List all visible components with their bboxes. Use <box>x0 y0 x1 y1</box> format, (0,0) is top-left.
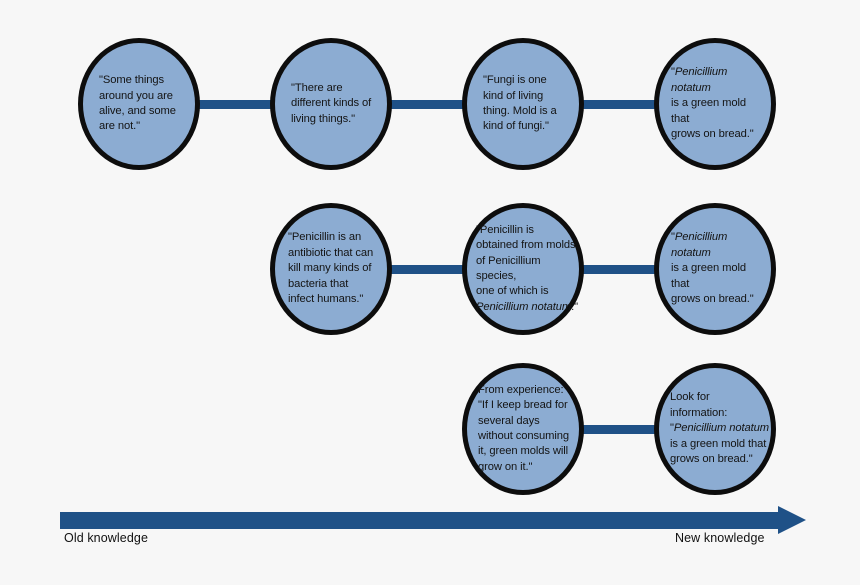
node-r2n3-label: "Penicillium notatum is a green mold tha… <box>659 230 771 307</box>
timeline-arrow-shaft <box>60 512 780 529</box>
node-r2n1-label: "Penicillin is an antibiotic that can ki… <box>275 230 387 307</box>
node-r3n2[interactable]: Look for information: "Penicillium notat… <box>654 363 776 495</box>
node-r2n1[interactable]: "Penicillin is an antibiotic that can ki… <box>270 203 392 335</box>
axis-label-new-knowledge: New knowledge <box>675 531 765 545</box>
node-r1n3[interactable]: "Fungi is one kind of living thing. Mold… <box>462 38 584 170</box>
node-r1n1-label: "Some things around you are alive, and s… <box>83 73 195 135</box>
connector-r1-1-2 <box>186 100 282 109</box>
node-r1n2-label: "There are different kinds of living thi… <box>275 81 387 127</box>
timeline-arrow-head <box>778 506 806 534</box>
node-r3n1[interactable]: From experience: "If I keep bread for se… <box>462 363 584 495</box>
node-r3n2-label: Look for information: "Penicillium notat… <box>659 390 771 467</box>
diagram-canvas: "Some things around you are alive, and s… <box>0 0 860 585</box>
node-r1n4[interactable]: "Penicillium notatum is a green mold tha… <box>654 38 776 170</box>
node-r1n4-label: "Penicillium notatum is a green mold tha… <box>659 65 771 142</box>
node-r1n1[interactable]: "Some things around you are alive, and s… <box>78 38 200 170</box>
node-r1n2[interactable]: "There are different kinds of living thi… <box>270 38 392 170</box>
node-r3n1-label: From experience: "If I keep bread for se… <box>467 383 579 475</box>
node-r2n3[interactable]: "Penicillium notatum is a green mold tha… <box>654 203 776 335</box>
axis-label-old-knowledge: Old knowledge <box>64 531 148 545</box>
node-r2n2-label: "Penicillin is obtained from molds of Pe… <box>467 223 579 315</box>
node-r2n2[interactable]: "Penicillin is obtained from molds of Pe… <box>462 203 584 335</box>
node-r1n3-label: "Fungi is one kind of living thing. Mold… <box>467 73 579 135</box>
